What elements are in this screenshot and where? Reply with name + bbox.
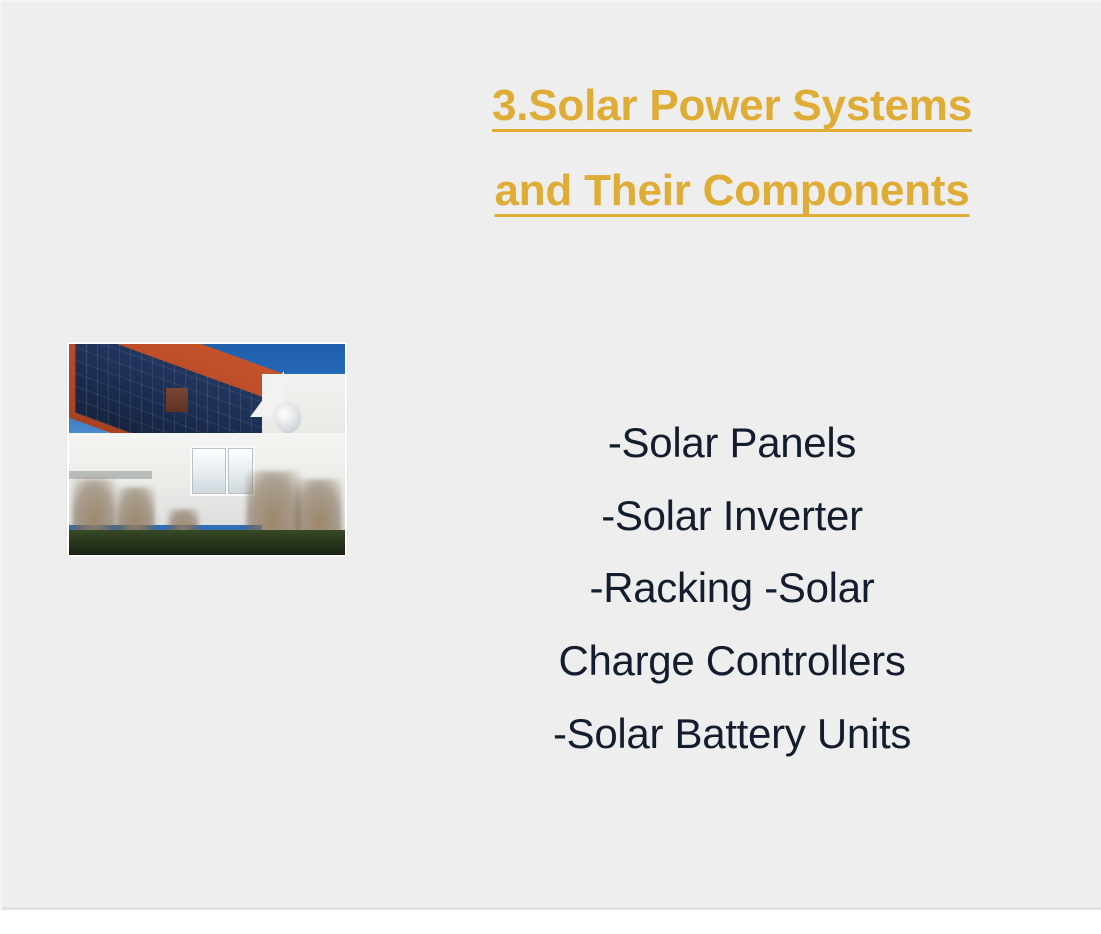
porch-canopy [69,471,152,479]
chimney [166,388,188,411]
page-footer [0,910,1101,934]
slide-heading: 3.Solar Power Systems and Their Componen… [457,64,1007,234]
component-list: -Solar Panels -Solar Inverter -Racking -… [457,407,1007,770]
slide-content: 3.Solar Power Systems and Their Componen… [2,2,1101,907]
grass-lawn [69,530,345,555]
photo-canvas [69,344,345,555]
slide-canvas: 3.Solar Power Systems and Their Componen… [0,0,1101,910]
list-item: -Solar Inverter [457,480,1007,553]
solar-house-photo [67,342,347,557]
list-item: -Solar Panels [457,407,1007,480]
house-window [190,446,227,496]
list-item: -Solar Battery Units [457,698,1007,771]
list-item: -Racking -Solar [457,552,1007,625]
list-item: Charge Controllers [457,625,1007,698]
text-column: 3.Solar Power Systems and Their Componen… [457,2,1007,907]
round-attic-window [275,403,301,433]
